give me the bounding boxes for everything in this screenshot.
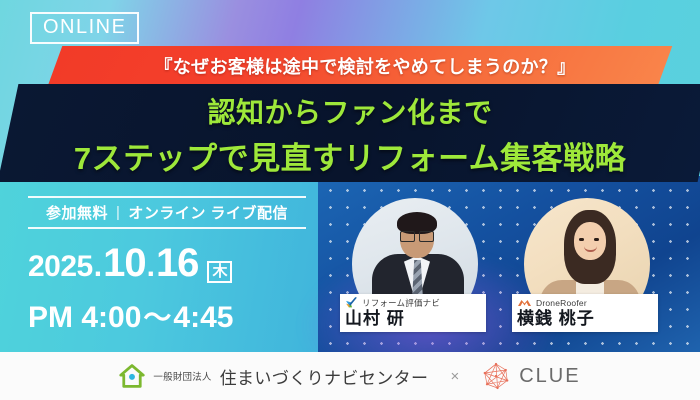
date-day: 16: [156, 243, 199, 283]
speaker-1-org: リフォーム評価ナビ: [362, 297, 440, 309]
attendance-info-row: 参加無料 | オンライン ライブ配信: [28, 196, 306, 229]
speaker-2-eye-left: [579, 238, 584, 241]
label-separator: |: [116, 204, 120, 221]
date-year: 2025: [28, 250, 93, 284]
time-start: 4:00: [81, 301, 141, 334]
speaker-2-face: [574, 222, 606, 260]
organizer-corp-prefix: 一般財団法人: [153, 369, 211, 383]
date-month: 10: [103, 243, 146, 283]
partnership-cross: ×: [450, 368, 459, 385]
glasses-icon: [400, 231, 434, 240]
clue-polygon-network-icon: [481, 361, 511, 391]
title-line-1: 認知からファン化まで: [207, 91, 492, 131]
green-house-icon: [119, 363, 145, 389]
speaker-2-org-row: DroneRoofer: [517, 296, 654, 309]
page-title: 認知からファン化まで 7ステップで見直すリフォーム集客戦略: [0, 86, 700, 182]
speaker-2-name: 横銭 桃子: [517, 309, 654, 329]
event-time: PM 4:00〜4:45: [28, 296, 328, 336]
speaker-2-org: DroneRoofer: [536, 298, 587, 308]
speaker-card-1: リフォーム評価ナビ 山村 研: [340, 198, 490, 346]
drone-roofer-roof-logo-icon: [517, 297, 532, 308]
format-label: オンライン ライブ配信: [128, 202, 288, 223]
reform-navi-check-logo-icon: [345, 296, 358, 309]
speaker-2-eye-right: [594, 238, 599, 241]
speaker-2-name-plate: DroneRoofer 横銭 桃子: [512, 294, 658, 332]
event-date: 2025 . 10 . 16 木: [28, 243, 328, 284]
online-badge: ONLINE: [30, 12, 139, 44]
partner-name: CLUE: [519, 365, 580, 388]
footer-logos: 一般財団法人 住まいづくりナビセンター × CLUE: [0, 352, 700, 400]
date-dot-2: .: [147, 250, 155, 284]
speaker-1-name-plate: リフォーム評価ナビ 山村 研: [340, 294, 486, 332]
speaker-1-org-row: リフォーム評価ナビ: [345, 296, 482, 309]
time-range-tilde: 〜: [143, 302, 171, 333]
title-line-2: 7ステップで見直すリフォーム集客戦略: [74, 133, 626, 178]
date-day-of-week: 木: [207, 261, 232, 283]
speaker-1-name: 山村 研: [345, 309, 482, 329]
speaker-card-2: DroneRoofer 横銭 桃子: [512, 198, 662, 346]
event-info-column: 参加無料 | オンライン ライブ配信 2025 . 10 . 16 木 PM 4…: [28, 196, 328, 336]
organizer-name: 住まいづくりナビセンター: [220, 364, 429, 389]
free-label: 参加無料: [46, 202, 108, 223]
organizer-logo-group: 一般財団法人 住まいづくりナビセンター: [119, 363, 428, 389]
webinar-promo-banner: ONLINE 『なぜお客様は途中で検討をやめてしまうのか？』 認知からファン化ま…: [0, 0, 700, 400]
time-end: 4:45: [173, 301, 233, 334]
sub-banner-text: 『なぜお客様は途中で検討をやめてしまうのか？』: [75, 47, 655, 85]
partner-logo-group: CLUE: [481, 361, 580, 391]
time-meridiem: PM: [28, 301, 73, 334]
date-dot-1: .: [94, 250, 102, 284]
